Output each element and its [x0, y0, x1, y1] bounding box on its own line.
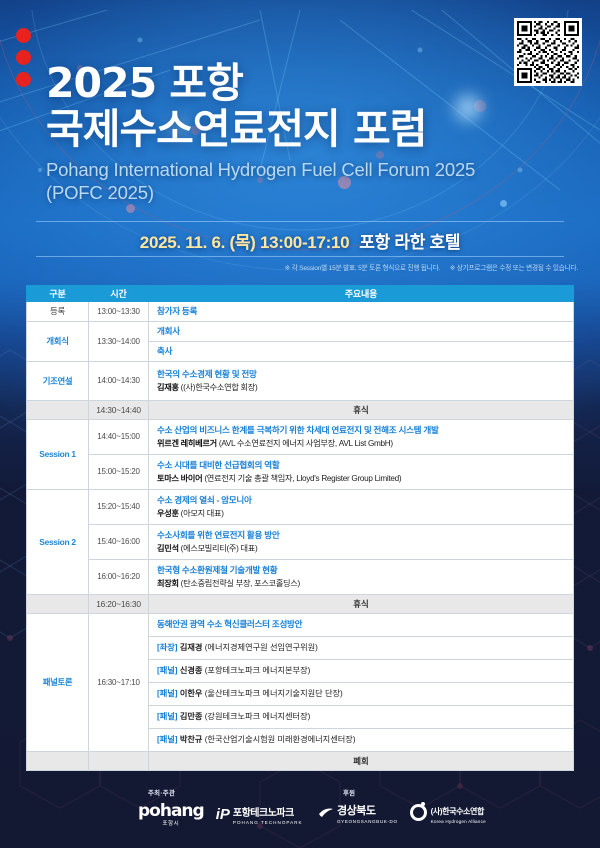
row-speaker: 위르겐 레히베르거 (AVL 수소연료전지 에너지 사업부장, AVL List… [157, 438, 568, 450]
row-title: 수소 산업의 비즈니스 한계를 극복하기 위한 차세대 연료전지 및 전해조 시… [157, 424, 568, 436]
panel-role-tag: [좌장] [157, 643, 178, 652]
row-content: [좌장] 김재경 (에너지경제연구원 선임연구위원) [149, 636, 574, 659]
row-time: 16:30~17:10 [89, 613, 149, 751]
row-category: 패널토론 [27, 613, 89, 751]
subtitle-block: Pohang International Hydrogen Fuel Cell … [46, 159, 600, 204]
row-content: 동해안권 광역 수소 혁신클러스터 조성방안 [149, 613, 574, 636]
sponsor-logo-group: 경상북도 GYEONGSANGBUK-DO (사)한국수소연합 Korea Hy… [318, 801, 486, 824]
row-content: [패널] 김만종 (강원테크노파크 에너지센터장) [149, 705, 574, 728]
row-speaker: 김재홍 ((사)한국수소연합 회장) [157, 382, 568, 394]
speaker-affiliation: (탄소중립전략실 부장, 포스코홀딩스) [179, 579, 300, 588]
speaker-affiliation: (아모지 대표) [179, 509, 224, 518]
panel-role-tag: [패널] [157, 735, 178, 744]
row-category [27, 594, 89, 613]
note-session-format: ※ 각 Session별 15분 발표, 5분 토론 형식으로 진행 됩니다. [285, 265, 440, 272]
logo-tp-mark: iP [216, 806, 230, 823]
speaker-name: 신경종 [180, 666, 203, 675]
host-logo-group: pohang 포항시 iP 포항테크노파크 POHANG TECHNOPARK [138, 801, 303, 827]
date-venue-line: 2025. 11. 6. (목) 13:00-17:10포항 라한 호텔 [0, 228, 600, 253]
row-time: 15:00~15:20 [89, 454, 149, 489]
title-block: 2025 포항 국제수소연료전지 포럼 Pohang International… [0, 62, 600, 205]
row-content: 수소 경제의 열쇠 - 암모니아 우성훈 (아모지 대표) [149, 489, 574, 524]
row-time: 16:20~16:30 [89, 594, 149, 613]
row-category: 개회식 [27, 321, 89, 361]
logo-pohang-technopark: iP 포항테크노파크 POHANG TECHNOPARK [216, 803, 303, 825]
row-title: 동해안권 광역 수소 혁신클러스터 조성방안 [157, 618, 568, 630]
subtitle-line2: (POFC 2025) [46, 182, 600, 205]
speaker-name: 김민석 [157, 544, 179, 553]
event-venue: 포항 라한 호텔 [359, 233, 460, 252]
row-category [27, 751, 89, 770]
speaker-affiliation: (AVL 수소연료전지 에너지 사업부장, AVL List GmbH) [217, 439, 393, 448]
table-row-break: 14:30~14:40 휴식 [27, 400, 574, 419]
table-header-row: 구분 시간 주요내용 [27, 286, 574, 302]
row-content: 휴식 [149, 400, 574, 419]
row-content: 한국형 수소환원제철 기술개발 현황 최장회 (탄소중립전략실 부장, 포스코홀… [149, 559, 574, 594]
sponsor-label: 후원 [343, 788, 355, 797]
row-content: 수소 시대를 대비한 선급협회의 역할 토마스 바이어 (연료전지 기술 총괄 … [149, 454, 574, 489]
row-time: 14:00~14:30 [89, 361, 149, 400]
logo-kha-name: (사)한국수소연합 [431, 807, 484, 816]
speaker-affiliation: (연료전지 기술 총괄 책임자, Lloyd's Register Group … [202, 474, 401, 483]
swoosh-icon [318, 806, 334, 819]
speaker-name: 위르겐 레히베르거 [157, 439, 217, 448]
row-time: 15:40~16:00 [89, 524, 149, 559]
page-title-line1: 2025 포항 [46, 62, 600, 104]
row-time [89, 751, 149, 770]
logo-gb-sub: GYEONGSANGBUK-DO [337, 819, 398, 824]
speaker-name: 김재홍 [157, 383, 179, 392]
row-category: Session 1 [27, 419, 89, 489]
row-category [27, 400, 89, 419]
speaker-name: 우성훈 [157, 509, 179, 518]
table-row: 기조연설 14:00~14:30 한국의 수소경제 현황 및 전망 김재홍 ((… [27, 361, 574, 400]
footer: 주최·주관 후원 pohang 포항시 iP 포항테크노파크 POHANG TE… [0, 784, 600, 840]
event-datetime: 2025. 11. 6. (목) 13:00-17:10 [140, 233, 350, 252]
row-title: 한국형 수소환원제철 기술개발 현황 [157, 564, 568, 576]
row-category: 등록 [27, 302, 89, 322]
speaker-affiliation: ((사)한국수소연합 회장) [179, 383, 258, 392]
row-content: 폐회 [149, 751, 574, 770]
row-time: 15:20~15:40 [89, 489, 149, 524]
row-category: Session 2 [27, 489, 89, 594]
row-time: 13:30~14:00 [89, 321, 149, 361]
speaker-affiliation: (한국산업기술시험원 미래환경에너지센터장) [202, 735, 355, 744]
row-speaker: 토마스 바이어 (연료전지 기술 총괄 책임자, Lloyd's Registe… [157, 473, 568, 485]
table-row: Session 1 14:40~15:00 수소 산업의 비즈니스 한계를 극복… [27, 419, 574, 454]
panel-role-tag: [패널] [157, 666, 178, 675]
speaker-name: 이한우 [180, 689, 203, 698]
row-title: 참가자 등록 [157, 306, 197, 316]
panel-role-tag: [패널] [157, 712, 178, 721]
table-row-break: 폐회 [27, 751, 574, 770]
row-content: [패널] 신경종 (포항테크노파크 에너지본부장) [149, 659, 574, 682]
row-time: 14:30~14:40 [89, 400, 149, 419]
table-row: 패널토론 16:30~17:10 동해안권 광역 수소 혁신클러스터 조성방안 [27, 613, 574, 636]
hydrogen-ring-icon [410, 804, 427, 821]
speaker-affiliation: (포항테크노파크 에너지본부장) [202, 666, 310, 675]
row-title: 개회사 [157, 326, 180, 336]
table-row: 15:40~16:00 수소사회를 위한 연료전지 활용 방안 김민석 (에스모… [27, 524, 574, 559]
row-time: 13:00~13:30 [89, 302, 149, 322]
row-title: 수소 시대를 대비한 선급협회의 역할 [157, 459, 568, 471]
column-header-time: 시간 [89, 286, 149, 302]
speaker-name: 김만종 [180, 712, 203, 721]
speaker-name: 최장회 [157, 579, 179, 588]
speaker-affiliation: (강원테크노파크 에너지센터장) [202, 712, 310, 721]
row-time: 16:00~16:20 [89, 559, 149, 594]
table-row: Session 2 15:20~15:40 수소 경제의 열쇠 - 암모니아 우… [27, 489, 574, 524]
program-notes: ※ 각 Session별 15분 발표, 5분 토론 형식으로 진행 됩니다. … [277, 262, 578, 272]
row-speaker: 김민석 (에스모빌리티(주) 대표) [157, 543, 568, 555]
table-row: 16:00~16:20 한국형 수소환원제철 기술개발 현황 최장회 (탄소중립… [27, 559, 574, 594]
row-content: 수소사회를 위한 연료전지 활용 방안 김민석 (에스모빌리티(주) 대표) [149, 524, 574, 559]
speaker-affiliation: (울산테크노파크 에너지기술지원단 단장) [202, 689, 342, 698]
logo-gyeongsangbuk-do: 경상북도 GYEONGSANGBUK-DO [318, 801, 398, 824]
table-row: 등록 13:00~13:30 참가자 등록 [27, 302, 574, 322]
page-title-line2: 국제수소연료전지 포럼 [46, 108, 600, 150]
speaker-name: 토마스 바이어 [157, 474, 202, 483]
column-header-content: 주요내용 [149, 286, 574, 302]
logo-tp-name: 포항테크노파크 [233, 808, 294, 819]
subtitle-line1: Pohang International Hydrogen Fuel Cell … [46, 159, 600, 182]
poster-root: 2025 포항 국제수소연료전지 포럼 Pohang International… [0, 0, 600, 848]
logo-tp-sub: POHANG TECHNOPARK [233, 820, 303, 825]
row-title: 수소 경제의 열쇠 - 암모니아 [157, 494, 568, 506]
table-row: 15:00~15:20 수소 시대를 대비한 선급협회의 역할 토마스 바이어 … [27, 454, 574, 489]
row-speaker: 우성훈 (아모지 대표) [157, 508, 568, 520]
accent-dot-b [126, 204, 135, 213]
row-content: 개회사 [149, 321, 574, 341]
column-header-category: 구분 [27, 286, 89, 302]
speaker-name: 김재경 [180, 643, 203, 652]
row-content: [패널] 박찬규 (한국산업기술시험원 미래환경에너지센터장) [149, 728, 574, 751]
logo-gb-name: 경상북도 [337, 805, 375, 817]
row-title: 수소사회를 위한 연료전지 활용 방안 [157, 529, 568, 541]
panel-role-tag: [패널] [157, 689, 178, 698]
speaker-affiliation: (에스모빌리티(주) 대표) [179, 544, 258, 553]
table-row-break: 16:20~16:30 휴식 [27, 594, 574, 613]
row-category: 기조연설 [27, 361, 89, 400]
logo-korea-hydrogen-alliance: (사)한국수소연합 Korea Hydrogen Alliance [410, 801, 486, 824]
row-content: 축사 [149, 341, 574, 361]
row-content: 수소 산업의 비즈니스 한계를 극복하기 위한 차세대 연료전지 및 전해조 시… [149, 419, 574, 454]
row-content: [패널] 이한우 (울산테크노파크 에너지기술지원단 단장) [149, 682, 574, 705]
host-label: 주최·주관 [148, 788, 175, 797]
row-content: 한국의 수소경제 현황 및 전망 김재홍 ((사)한국수소연합 회장) [149, 361, 574, 400]
schedule-table: 구분 시간 주요내용 등록 13:00~13:30 참가자 등록 개회식 1 [26, 285, 574, 771]
divider-bottom [36, 256, 564, 257]
red-dot-1 [16, 28, 31, 43]
row-time: 14:40~15:00 [89, 419, 149, 454]
schedule-table-wrapper: 구분 시간 주요내용 등록 13:00~13:30 참가자 등록 개회식 1 [26, 285, 574, 771]
table-row: 개회식 13:30~14:00 개회사 [27, 321, 574, 341]
speaker-affiliation: (에너지경제연구원 선임연구위원) [202, 643, 317, 652]
divider-top [36, 221, 564, 222]
logo-kha-sub: Korea Hydrogen Alliance [431, 819, 486, 824]
row-speaker: 최장회 (탄소중립전략실 부장, 포스코홀딩스) [157, 578, 568, 590]
speaker-name: 박찬규 [180, 735, 203, 744]
row-title: 축사 [157, 346, 172, 356]
logo-pohang-city: pohang 포항시 [138, 801, 204, 827]
logo-pohang-wordmark: pohang [138, 801, 204, 821]
row-title: 한국의 수소경제 현황 및 전망 [157, 368, 568, 380]
row-content: 휴식 [149, 594, 574, 613]
row-content: 참가자 등록 [149, 302, 574, 322]
note-program-change: ※ 상기프로그램은 수정 또는 변경될 수 있습니다. [450, 265, 578, 272]
